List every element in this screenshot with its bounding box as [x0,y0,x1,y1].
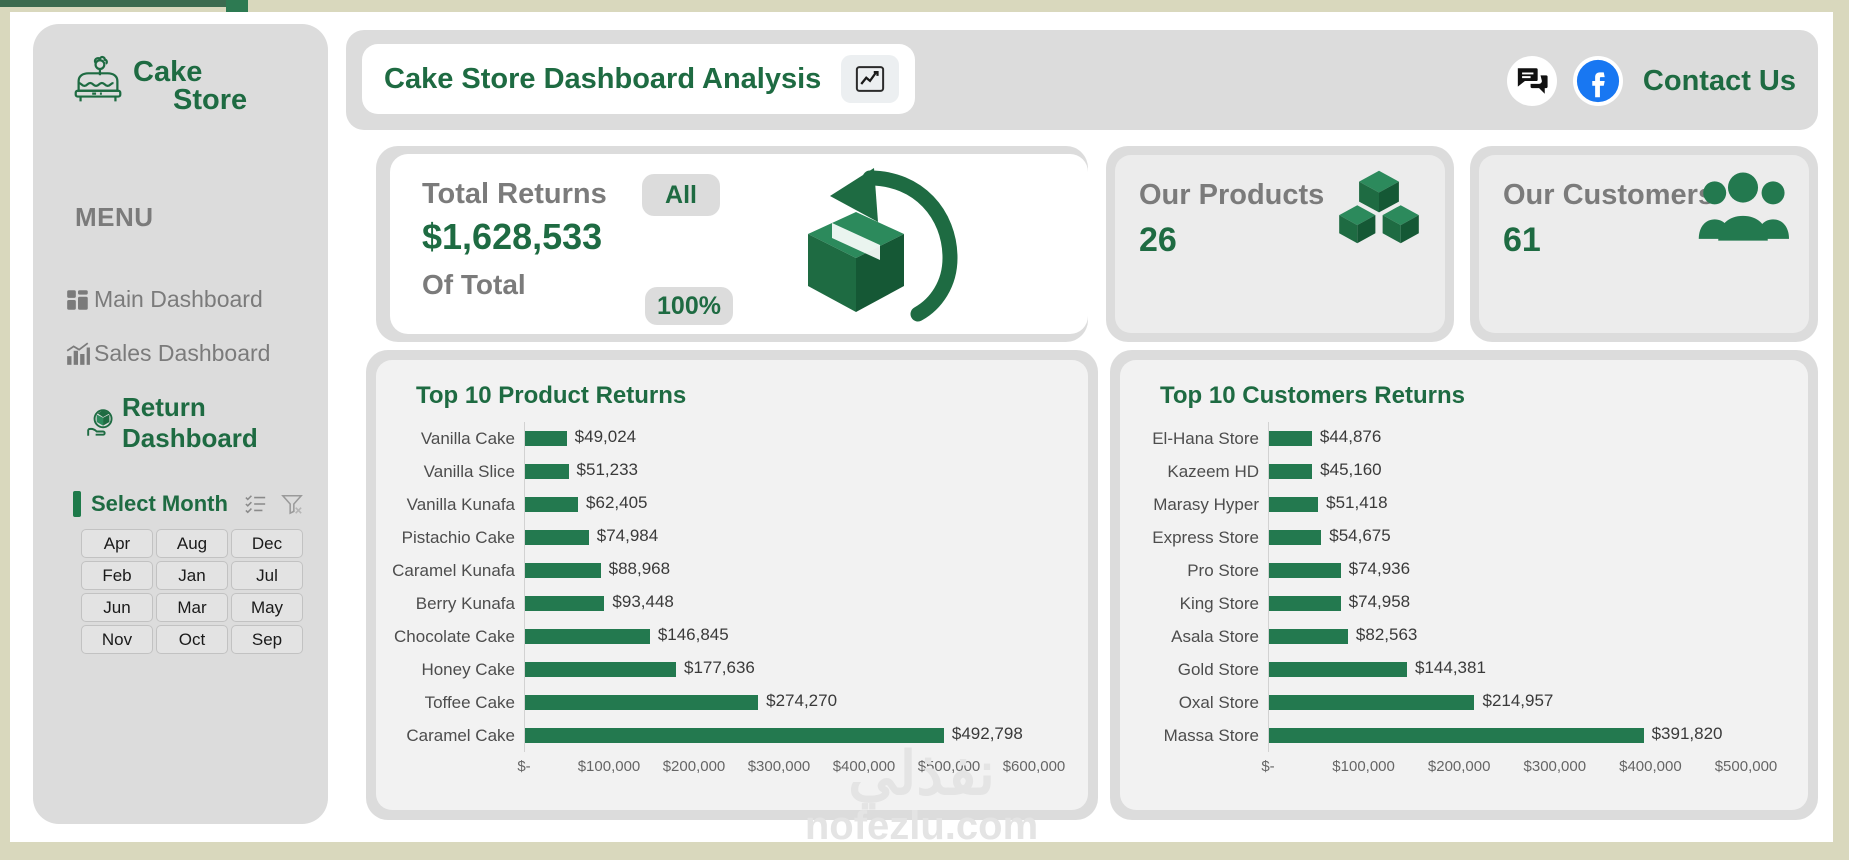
bar-track: $214,957 [1268,686,1808,719]
bar-track: $74,936 [1268,554,1808,587]
bar-value-label: $88,968 [609,559,670,579]
bar-track: $492,798 [524,719,1088,752]
total-returns-sublabel: Of Total [422,269,526,301]
sidebar-item-label: Return Dashboard [122,392,328,454]
header-bar: Cake Store Dashboard Analysis [346,30,1818,130]
bar-category-label: Marasy Hyper [1120,495,1268,515]
bar-track: $177,636 [524,653,1088,686]
scope-badge: All [642,174,720,216]
month-button[interactable]: May [231,593,303,622]
bar-value-label: $391,820 [1652,724,1723,744]
bar-category-label: Honey Cake [376,660,524,680]
bar-value-label: $492,798 [952,724,1023,744]
bar-value-label: $54,675 [1329,526,1390,546]
page-title-pill: Cake Store Dashboard Analysis [362,44,915,114]
bar-row: Asala Store$82,563 [1120,620,1808,653]
bar-fill[interactable] [525,629,650,644]
top-products-chart: Vanilla Cake$49,024Vanilla Slice$51,233V… [376,422,1088,810]
bar-track: $45,160 [1268,455,1808,488]
axis-tick-label: $100,000 [578,758,641,775]
bar-category-label: El-Hana Store [1120,429,1268,449]
bar-category-label: Asala Store [1120,627,1268,647]
bar-category-label: King Store [1120,594,1268,614]
bar-row: Berry Kunafa$93,448 [376,587,1088,620]
bar-row: Vanilla Cake$49,024 [376,422,1088,455]
top-products-title: Top 10 Product Returns [416,382,686,410]
month-slicer-title: Select Month [91,491,228,517]
bar-category-label: Caramel Kunafa [376,561,524,581]
bar-row: Gold Store$144,381 [1120,653,1808,686]
bar-value-label: $74,958 [1349,592,1410,612]
page-frame-accent-bar [0,0,238,7]
top-customers-panel: Top 10 Customers Returns El-Hana Store$4… [1110,350,1818,820]
month-button[interactable]: Sep [231,625,303,654]
cake-icon [67,52,129,114]
bar-fill[interactable] [525,728,944,743]
bar-row: Caramel Kunafa$88,968 [376,554,1088,587]
month-button[interactable]: Oct [156,625,228,654]
bar-category-label: Vanilla Slice [376,462,524,482]
axis-tick-label: $100,000 [1332,758,1395,775]
month-button[interactable]: Dec [231,529,303,558]
bar-track: $146,845 [524,620,1088,653]
bar-track: $274,270 [524,686,1088,719]
axis-tick-label: $300,000 [748,758,811,775]
sidebar-item-return-dashboard[interactable]: Return Dashboard [85,392,328,454]
header-contact-group: Contact Us [1507,56,1796,106]
bar-value-label: $51,233 [577,460,638,480]
axis-tick-label: $200,000 [663,758,726,775]
clear-filter-icon[interactable] [281,493,303,515]
bar-fill[interactable] [1269,431,1312,446]
line-chart-icon [841,55,899,103]
bar-row: Express Store$54,675 [1120,521,1808,554]
bar-fill[interactable] [1269,629,1348,644]
axis-tick-label: $200,000 [1428,758,1491,775]
bar-fill[interactable] [1269,497,1318,512]
page-frame-bottom [0,842,1849,860]
axis-tick-label: $600,000 [1003,758,1066,775]
our-customers-label: Our Customers [1503,179,1714,212]
bar-category-label: Express Store [1120,528,1268,548]
bar-value-label: $44,876 [1320,427,1381,447]
axis-tick-label: $- [1261,758,1274,775]
return-arrow-box-icon [778,166,958,326]
bar-category-label: Gold Store [1120,660,1268,680]
axis-tick-label: $400,000 [833,758,896,775]
bar-fill[interactable] [1269,728,1644,743]
bar-row: Kazeem HD$45,160 [1120,455,1808,488]
month-slicer-grid[interactable]: Apr Aug Dec Feb Jan Jul Jun Mar May Nov … [81,529,303,654]
our-products-label: Our Products [1139,179,1324,212]
bar-value-label: $146,845 [658,625,729,645]
bar-value-label: $144,381 [1415,658,1486,678]
bar-track: $51,233 [524,455,1088,488]
page-frame-right [1833,0,1849,860]
bar-fill[interactable] [1269,464,1312,479]
bar-fill[interactable] [1269,530,1321,545]
bar-category-label: Chocolate Cake [376,627,524,647]
bar-value-label: $82,563 [1356,625,1417,645]
bar-row: Vanilla Slice$51,233 [376,455,1088,488]
sidebar-item-sales-dashboard[interactable]: Sales Dashboard [65,340,270,367]
axis-tick-label: $500,000 [1715,758,1778,775]
our-products-card: Our Products 26 [1106,146,1454,342]
bar-fill[interactable] [525,431,567,446]
contact-us-label[interactable]: Contact Us [1643,65,1796,98]
month-button[interactable]: Apr [81,529,153,558]
axis-tick-row: $-$100,000$200,000$300,000$400,000$500,0… [1268,758,1808,782]
bar-row: Massa Store$391,820 [1120,719,1808,752]
dashboard-root: Cake Store MENU Main Dashboard [0,0,1849,860]
sidebar-item-label: Sales Dashboard [94,340,270,367]
bar-track: $54,675 [1268,521,1808,554]
bar-value-label: $49,024 [575,427,636,447]
bar-track: $391,820 [1268,719,1808,752]
bar-track: $74,958 [1268,587,1808,620]
bar-row: Toffee Cake$274,270 [376,686,1088,719]
bar-fill[interactable] [525,563,601,578]
total-returns-card: Total Returns $1,628,533 Of Total All 10… [376,146,1088,342]
bar-track: $44,876 [1268,422,1808,455]
axis-tick-label: $300,000 [1524,758,1587,775]
bar-category-label: Caramel Cake [376,726,524,746]
bar-fill[interactable] [525,662,676,677]
bar-category-label: Kazeem HD [1120,462,1268,482]
slicer-accent-bar [73,491,81,517]
bar-track: $62,405 [524,488,1088,521]
brand-logo: Cake Store [67,52,247,115]
boxes-icon [1333,169,1425,245]
multi-select-icon[interactable] [245,493,267,515]
bar-row: Vanilla Kunafa$62,405 [376,488,1088,521]
bar-row: King Store$74,958 [1120,587,1808,620]
bar-category-label: Vanilla Kunafa [376,495,524,515]
bar-fill[interactable] [525,695,758,710]
value-axis: $-$100,000$200,000$300,000$400,000$500,0… [1120,758,1808,782]
bar-chart-icon [65,341,91,367]
bar-value-label: $177,636 [684,658,755,678]
percent-badge: 100% [645,287,733,325]
our-customers-card: Our Customers 61 [1470,146,1818,342]
page-frame-left [0,0,10,860]
bar-row: Pro Store$74,936 [1120,554,1808,587]
bar-track: $88,968 [524,554,1088,587]
bar-value-label: $274,270 [766,691,837,711]
bar-fill[interactable] [1269,563,1341,578]
month-button[interactable]: Mar [156,593,228,622]
bar-category-label: Massa Store [1120,726,1268,746]
month-button[interactable]: Feb [81,561,153,590]
report-canvas: Cake Store MENU Main Dashboard [10,12,1833,842]
bar-fill[interactable] [525,464,569,479]
month-button[interactable]: Aug [156,529,228,558]
bar-row: El-Hana Store$44,876 [1120,422,1808,455]
axis-tick-row: $-$100,000$200,000$300,000$400,000$500,0… [524,758,1088,782]
bar-category-label: Pistachio Cake [376,528,524,548]
bar-fill[interactable] [1269,695,1474,710]
bar-track: $144,381 [1268,653,1808,686]
brand-logo-line2: Store [173,86,247,114]
brand-logo-line1: Cake [133,56,202,88]
sidebar-item-main-dashboard[interactable]: Main Dashboard [65,286,263,313]
top-products-panel: Top 10 Product Returns Vanilla Cake$49,0… [366,350,1098,820]
bar-row: Marasy Hyper$51,418 [1120,488,1808,521]
month-button[interactable]: Jan [156,561,228,590]
bar-category-label: Berry Kunafa [376,594,524,614]
axis-tick-label: $500,000 [918,758,981,775]
bar-category-label: Toffee Cake [376,693,524,713]
month-button[interactable]: Jul [231,561,303,590]
bar-row: Caramel Cake$492,798 [376,719,1088,752]
bar-category-label: Vanilla Cake [376,429,524,449]
total-returns-label: Total Returns [422,178,607,211]
month-slicer-header: Select Month [73,491,303,517]
bar-value-label: $45,160 [1320,460,1381,480]
bar-track: $82,563 [1268,620,1808,653]
bar-track: $51,418 [1268,488,1808,521]
bar-fill[interactable] [1269,596,1341,611]
menu-heading: MENU [75,202,154,233]
bar-track: $49,024 [524,422,1088,455]
bar-value-label: $74,984 [597,526,658,546]
our-customers-value: 61 [1503,221,1541,260]
bar-category-label: Oxal Store [1120,693,1268,713]
bar-row: Pistachio Cake$74,984 [376,521,1088,554]
top-customers-chart: El-Hana Store$44,876Kazeem HD$45,160Mara… [1120,422,1808,810]
value-axis: $-$100,000$200,000$300,000$400,000$500,0… [376,758,1088,782]
chat-icon[interactable] [1507,56,1557,106]
bar-category-label: Pro Store [1120,561,1268,581]
people-icon [1697,169,1789,245]
axis-tick-label: $- [517,758,530,775]
top-customers-title: Top 10 Customers Returns [1160,382,1465,410]
bar-row: Honey Cake$177,636 [376,653,1088,686]
return-box-icon [85,406,119,440]
bar-value-label: $51,418 [1326,493,1387,513]
bar-value-label: $214,957 [1482,691,1553,711]
bar-fill[interactable] [1269,662,1407,677]
bar-row: Oxal Store$214,957 [1120,686,1808,719]
bar-row: Chocolate Cake$146,845 [376,620,1088,653]
bar-track: $93,448 [524,587,1088,620]
bar-value-label: $93,448 [612,592,673,612]
bar-value-label: $74,936 [1349,559,1410,579]
sidebar: Cake Store MENU Main Dashboard [33,24,328,824]
month-button[interactable]: Nov [81,625,153,654]
month-button[interactable]: Jun [81,593,153,622]
facebook-icon[interactable] [1573,56,1623,106]
page-title: Cake Store Dashboard Analysis [384,63,821,96]
bar-value-label: $62,405 [586,493,647,513]
bar-fill[interactable] [525,530,589,545]
total-returns-value: $1,628,533 [422,216,602,258]
bar-track: $74,984 [524,521,1088,554]
our-products-value: 26 [1139,221,1177,260]
bar-fill[interactable] [525,596,604,611]
grid-icon [65,287,91,313]
bar-fill[interactable] [525,497,578,512]
axis-tick-label: $400,000 [1619,758,1682,775]
sidebar-item-label: Main Dashboard [94,286,263,313]
